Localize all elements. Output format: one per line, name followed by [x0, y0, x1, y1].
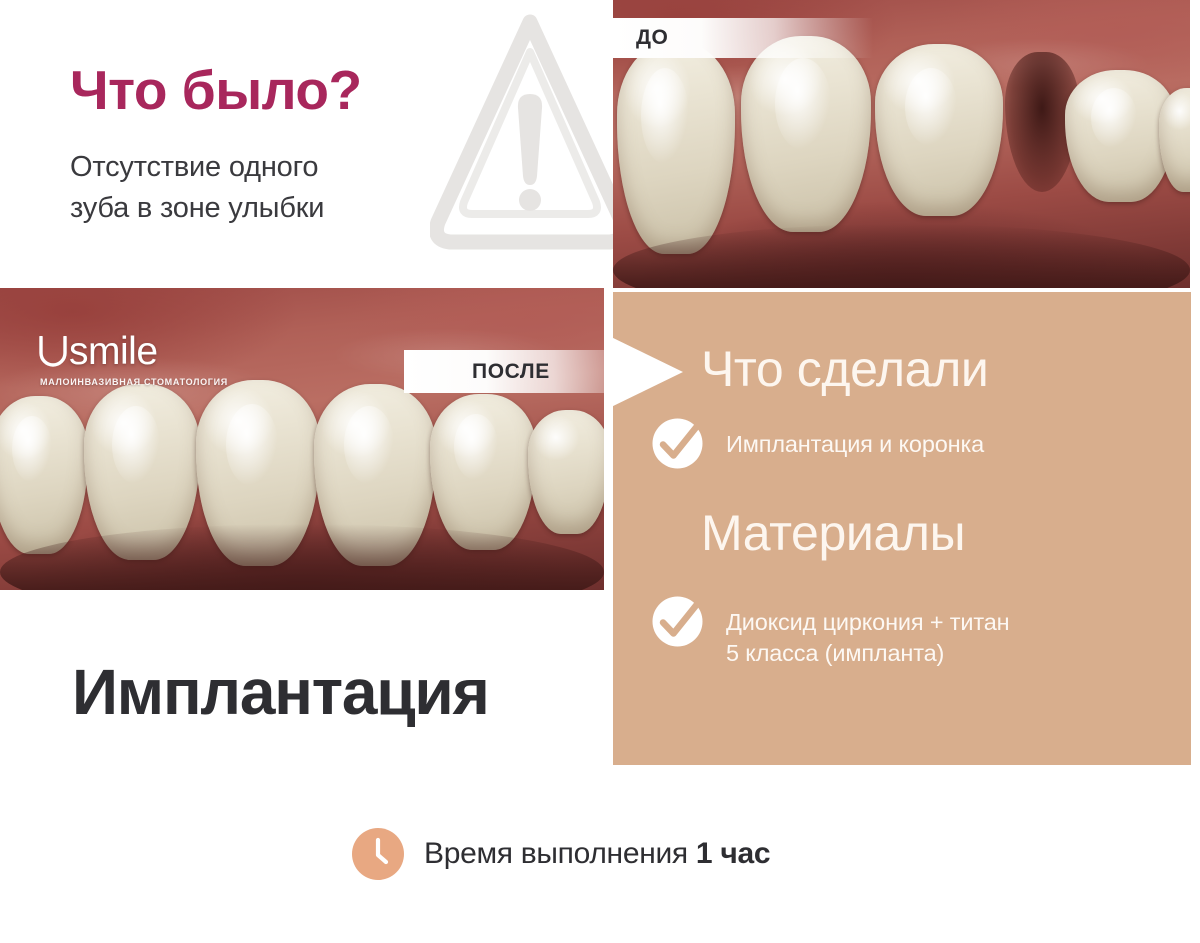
- logo-name: smile: [69, 332, 158, 371]
- page-subtitle: Отсутствие одного зуба в зоне улыбки: [70, 147, 470, 229]
- info-panel: Что сделали Имплантация и коронка Матери…: [613, 292, 1191, 765]
- tooth: [741, 36, 871, 232]
- duration-value: 1 час: [696, 837, 770, 870]
- logo-u-icon: [38, 336, 68, 367]
- section-heading-what-was-done: Что сделали: [701, 344, 988, 394]
- bullet-text: Имплантация и коронка: [726, 419, 984, 460]
- section-heading-materials: Материалы: [701, 508, 965, 558]
- logo-tagline: МАЛОИНВАЗИВНАЯ СТОМАТОЛОГИЯ: [40, 377, 228, 387]
- header-block: Что было? Отсутствие одного зуба в зоне …: [70, 62, 470, 229]
- tooth: [528, 410, 604, 534]
- label-before: ДО: [613, 18, 873, 58]
- tooth: [617, 42, 735, 254]
- clock-icon: [352, 828, 404, 880]
- bullet-what-was-done: Имплантация и коронка: [649, 419, 984, 476]
- label-before-text: ДО: [636, 26, 669, 50]
- tooth: [875, 44, 1003, 216]
- bullet-text: Диоксид циркония + титан 5 класса (импла…: [726, 597, 1010, 670]
- tooth: [430, 394, 536, 550]
- duration-text: Время выполнения 1 час: [424, 837, 770, 871]
- page-title: Что было?: [70, 62, 470, 120]
- label-after-text: ПОСЛЕ: [472, 360, 550, 384]
- check-circle-icon: [649, 415, 706, 472]
- procedure-title: Имплантация: [72, 660, 489, 724]
- footer-duration: Время выполнения 1 час: [352, 828, 770, 880]
- arrow-right-icon: [607, 335, 683, 409]
- bullet-materials: Диоксид циркония + титан 5 класса (импла…: [649, 597, 1010, 670]
- logo[interactable]: smile МАЛОИНВАЗИВНАЯ СТОМАТОЛОГИЯ: [38, 332, 228, 387]
- infographic-canvas: Что было? Отсутствие одного зуба в зоне …: [0, 0, 1200, 943]
- duration-label: Время выполнения: [424, 837, 696, 870]
- check-circle-icon: [649, 593, 706, 650]
- logo-wordmark: smile: [38, 332, 228, 371]
